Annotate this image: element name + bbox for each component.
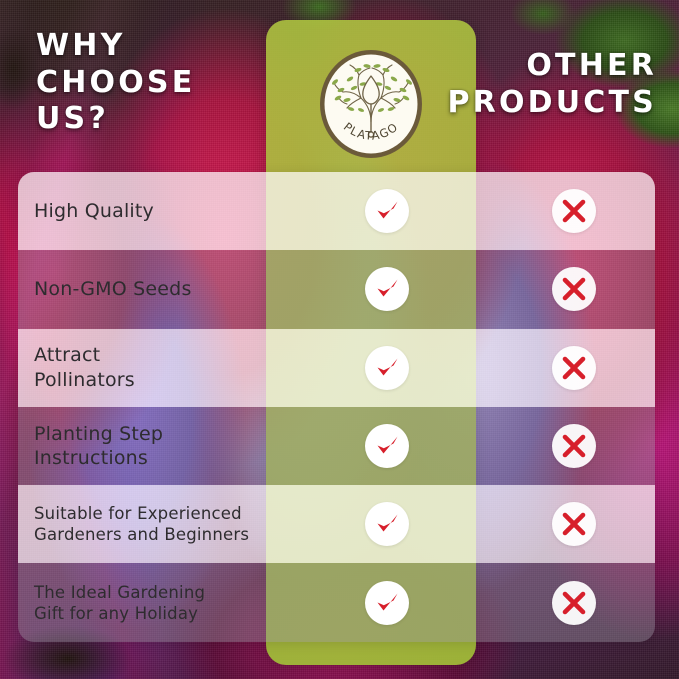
check-icon: [372, 588, 402, 618]
theirs-cell: [492, 346, 655, 390]
feature-label: The Ideal Gardening Gift for any Holiday: [18, 582, 282, 624]
feature-label: High Quality: [18, 199, 282, 223]
table-row: The Ideal Gardening Gift for any Holiday: [18, 563, 655, 641]
feature-label-line: Pollinators: [34, 368, 282, 392]
feature-label-line: Attract: [34, 343, 282, 367]
headline-right-line-1: OTHER: [447, 48, 657, 85]
theirs-cell: [492, 581, 655, 625]
headline-left-line-3: US?: [36, 101, 195, 138]
theirs-cell: [492, 424, 655, 468]
check-icon: [372, 196, 402, 226]
check-badge: [365, 346, 409, 390]
cross-badge: [552, 581, 596, 625]
check-icon: [372, 509, 402, 539]
feature-label: Non-GMO Seeds: [18, 277, 282, 301]
check-badge: [365, 424, 409, 468]
comparison-poster: PLATAGO WHY CHOOSE US? OTHER PRODUCTS Hi…: [0, 0, 679, 679]
comparison-table: High Quality Non-GMO: [18, 172, 655, 642]
check-icon: [372, 431, 402, 461]
feature-label: Suitable for Experienced Gardeners and B…: [18, 503, 282, 545]
cross-icon: [560, 432, 588, 460]
feature-label-line: Suitable for Experienced: [34, 503, 282, 524]
cross-badge: [552, 424, 596, 468]
feature-label-line: Planting Step: [34, 422, 282, 446]
headline-left-line-1: WHY: [36, 28, 195, 65]
cross-icon: [560, 589, 588, 617]
cross-icon: [560, 354, 588, 382]
feature-label-line: The Ideal Gardening: [34, 582, 282, 603]
cross-icon: [560, 510, 588, 538]
tree-with-trowel-icon: PLATAGO: [317, 48, 425, 160]
theirs-cell: [492, 267, 655, 311]
feature-label-line: Non-GMO Seeds: [34, 277, 282, 301]
table-row: Planting Step Instructions: [18, 407, 655, 485]
ours-cell: [282, 424, 492, 468]
ours-cell: [282, 267, 492, 311]
table-row: Suitable for Experienced Gardeners and B…: [18, 485, 655, 563]
platago-logo: PLATAGO: [317, 48, 425, 160]
ours-cell: [282, 502, 492, 546]
table-row: Non-GMO Seeds: [18, 250, 655, 328]
check-badge: [365, 502, 409, 546]
cross-badge: [552, 267, 596, 311]
feature-label: Attract Pollinators: [18, 343, 282, 392]
cross-icon: [560, 197, 588, 225]
theirs-cell: [492, 189, 655, 233]
ours-cell: [282, 189, 492, 233]
feature-label-line: Gift for any Holiday: [34, 603, 282, 624]
ours-cell: [282, 346, 492, 390]
feature-label: Planting Step Instructions: [18, 422, 282, 471]
feature-label-line: High Quality: [34, 199, 282, 223]
headline-left-line-2: CHOOSE: [36, 65, 195, 102]
table-row: Attract Pollinators: [18, 329, 655, 407]
cross-badge: [552, 502, 596, 546]
cross-icon: [560, 275, 588, 303]
check-badge: [365, 581, 409, 625]
headline-right: OTHER PRODUCTS: [447, 48, 657, 121]
headline-left: WHY CHOOSE US?: [36, 28, 195, 138]
table-row: High Quality: [18, 172, 655, 250]
theirs-cell: [492, 502, 655, 546]
feature-label-line: Gardeners and Beginners: [34, 524, 282, 545]
check-badge: [365, 267, 409, 311]
feature-label-line: Instructions: [34, 446, 282, 470]
check-badge: [365, 189, 409, 233]
headline-right-line-2: PRODUCTS: [447, 85, 657, 122]
cross-badge: [552, 346, 596, 390]
ours-cell: [282, 581, 492, 625]
check-icon: [372, 274, 402, 304]
check-icon: [372, 353, 402, 383]
cross-badge: [552, 189, 596, 233]
